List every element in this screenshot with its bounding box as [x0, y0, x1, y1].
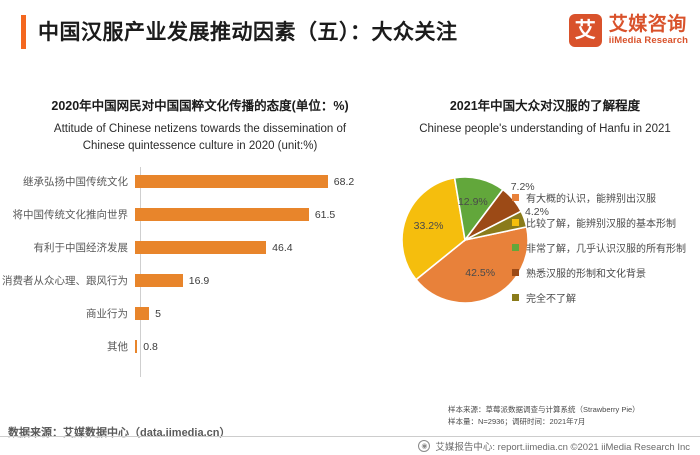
legend-swatch-icon	[512, 219, 519, 226]
footer-text: 艾媒报告中心: report.iimedia.cn ©2021 iiMedia …	[435, 439, 690, 453]
bar-category-label: 消费者从众心理、跟风行为	[0, 273, 134, 288]
pie-chart-legend: 有大概的认识，能辨别出汉服比较了解，能辨别汉服的基本形制非常了解，几乎认识汉服的…	[512, 185, 700, 310]
footer-bar: ◉ 艾媒报告中心: report.iimedia.cn ©2021 iiMedi…	[0, 436, 700, 455]
bar-fill[interactable]	[135, 208, 309, 221]
bar-value-label: 5	[155, 308, 161, 320]
sample-note-line1: 样本来源：草莓派数据调查与计算系统（Strawberry Pie）	[448, 404, 698, 416]
bar-row: 消费者从众心理、跟风行为16.9	[0, 274, 400, 287]
bar-category-label: 将中国传统文化推向世界	[0, 207, 134, 222]
bar-fill[interactable]	[135, 307, 149, 320]
legend-item[interactable]: 非常了解，几乎认识汉服的所有形制	[512, 235, 700, 260]
bar-category-label: 继承弘扬中国传统文化	[0, 174, 134, 189]
bar-row: 商业行为5	[0, 307, 400, 320]
brand-text: 艾媒咨询 iiMedia Research	[609, 15, 688, 47]
bar-chart-title-en-line2: Chinese quintessence culture in 2020 (un…	[0, 138, 400, 155]
legend-swatch-icon	[512, 244, 519, 251]
bar-track: 68.2	[135, 175, 354, 188]
legend-item[interactable]: 熟悉汉服的形制和文化背景	[512, 260, 700, 285]
pie-slice-percent-label: 33.2%	[414, 220, 444, 232]
pie-chart-title-cn: 2021年中国大众对汉服的了解程度	[390, 95, 700, 114]
bar-fill[interactable]	[135, 274, 183, 287]
globe-icon: ◉	[418, 440, 430, 452]
bar-fill[interactable]	[135, 340, 137, 353]
bar-value-label: 16.9	[189, 275, 209, 287]
header-accent-bar	[21, 15, 26, 49]
bar-chart-plot-area: 继承弘扬中国传统文化68.2将中国传统文化推向世界61.5有利于中国经济发展46…	[0, 167, 400, 382]
brand-name-cn: 艾媒咨询	[609, 15, 688, 35]
pie-chart-title-en: Chinese people's understanding of Hanfu …	[390, 121, 700, 138]
page-header: 中国汉服产业发展推动因素（五）：大众关注 艾 艾媒咨询 iiMedia Rese…	[0, 0, 700, 72]
pie-slice-percent-label: 12.9%	[458, 196, 488, 208]
bar-chart-title-cn: 2020年中国网民对中国国粹文化传播的态度(单位：%)	[0, 95, 400, 114]
page-title: 中国汉服产业发展推动因素（五）：大众关注	[38, 16, 458, 46]
bar-chart-panel: 2020年中国网民对中国国粹文化传播的态度(单位：%) Attitude of …	[0, 95, 400, 385]
bar-row: 有利于中国经济发展46.4	[0, 241, 400, 254]
legend-item[interactable]: 有大概的认识，能辨别出汉服	[512, 185, 700, 210]
bar-track: 61.5	[135, 208, 335, 221]
pie-slice-percent-label: 42.5%	[465, 267, 495, 279]
bar-category-label: 有利于中国经济发展	[0, 240, 134, 255]
legend-label: 熟悉汉服的形制和文化背景	[526, 265, 646, 280]
bar-track: 0.8	[135, 340, 158, 353]
legend-label: 完全不了解	[526, 290, 576, 305]
brand-mark-icon: 艾	[569, 14, 602, 47]
bar-track: 16.9	[135, 274, 209, 287]
legend-label: 有大概的认识，能辨别出汉服	[526, 190, 656, 205]
legend-item[interactable]: 比较了解，能辨别汉服的基本形制	[512, 210, 700, 235]
bar-row: 继承弘扬中国传统文化68.2	[0, 175, 400, 188]
bar-category-label: 其他	[0, 339, 134, 354]
brand-name-en: iiMedia Research	[609, 36, 688, 46]
bar-category-label: 商业行为	[0, 306, 134, 321]
sample-note: 样本来源：草莓派数据调查与计算系统（Strawberry Pie） 样本量：N=…	[448, 404, 698, 429]
bar-row: 将中国传统文化推向世界61.5	[0, 208, 400, 221]
bar-value-label: 46.4	[272, 242, 292, 254]
bar-value-label: 61.5	[315, 209, 335, 221]
bar-chart-title-en-line1: Attitude of Chinese netizens towards the…	[0, 121, 400, 138]
legend-item[interactable]: 完全不了解	[512, 285, 700, 310]
legend-label: 非常了解，几乎认识汉服的所有形制	[526, 240, 686, 255]
legend-swatch-icon	[512, 269, 519, 276]
bar-fill[interactable]	[135, 241, 266, 254]
brand-logo: 艾 艾媒咨询 iiMedia Research	[569, 14, 688, 47]
bar-track: 5	[135, 307, 161, 320]
bar-fill[interactable]	[135, 175, 328, 188]
legend-swatch-icon	[512, 194, 519, 201]
sample-note-line2: 样本量：N=2936；调研时间：2021年7月	[448, 416, 698, 428]
legend-swatch-icon	[512, 294, 519, 301]
legend-label: 比较了解，能辨别汉服的基本形制	[526, 215, 676, 230]
bar-track: 46.4	[135, 241, 293, 254]
pie-chart-panel: 2021年中国大众对汉服的了解程度 Chinese people's under…	[390, 95, 700, 385]
bar-row: 其他0.8	[0, 340, 400, 353]
bar-value-label: 0.8	[143, 341, 158, 353]
bar-value-label: 68.2	[334, 176, 354, 188]
